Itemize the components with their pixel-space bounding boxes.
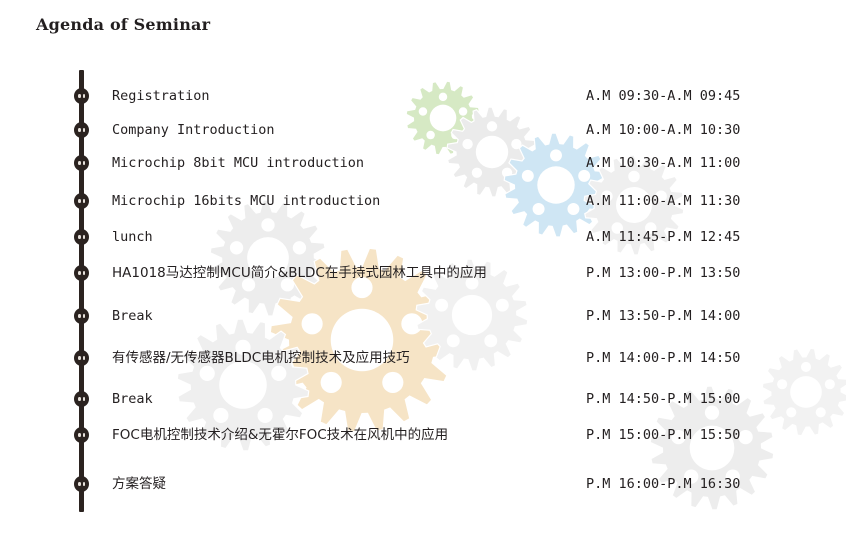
page-title: Agenda of Seminar — [36, 15, 210, 34]
slide-canvas: Agenda of Seminar RegistrationA.M 09:30-… — [0, 0, 846, 534]
agenda-item-label: Company Introduction — [112, 118, 275, 142]
agenda-row: HA1018马达控制MCU简介&BLDC在手持式园林工具中的应用P.M 13:0… — [0, 261, 846, 285]
timeline-bullet-icon — [74, 476, 89, 492]
agenda-row: FOC电机控制技术介绍&无霍尔FOC技术在风机中的应用P.M 15:00-P.M… — [0, 423, 846, 447]
timeline-bullet-icon — [74, 391, 89, 407]
timeline-bullet-icon — [74, 88, 89, 104]
agenda-row: 方案答疑P.M 16:00-P.M 16:30 — [0, 472, 846, 496]
timeline-bullet-icon — [74, 193, 89, 209]
timeline-bullet-icon — [74, 265, 89, 281]
agenda-item-time: P.M 13:50-P.M 14:00 — [586, 304, 740, 328]
agenda-item-time: A.M 11:45-P.M 12:45 — [586, 225, 740, 249]
agenda-item-label: Registration — [112, 84, 210, 108]
agenda-row: Company IntroductionA.M 10:00-A.M 10:30 — [0, 118, 846, 142]
agenda-item-time: A.M 10:00-A.M 10:30 — [586, 118, 740, 142]
agenda-item-label: Break — [112, 304, 153, 328]
agenda-item-time: P.M 16:00-P.M 16:30 — [586, 472, 740, 496]
agenda-row: RegistrationA.M 09:30-A.M 09:45 — [0, 84, 846, 108]
agenda-item-time: A.M 11:00-A.M 11:30 — [586, 189, 740, 213]
timeline-bullet-icon — [74, 155, 89, 171]
agenda-item-label: 方案答疑 — [112, 472, 166, 496]
timeline-bullet-icon — [74, 308, 89, 324]
timeline-bullet-icon — [74, 122, 89, 138]
agenda-row: BreakP.M 13:50-P.M 14:00 — [0, 304, 846, 328]
agenda-item-label: HA1018马达控制MCU简介&BLDC在手持式园林工具中的应用 — [112, 261, 487, 285]
agenda-item-label: Microchip 8bit MCU introduction — [112, 151, 364, 175]
agenda-item-time: A.M 10:30-A.M 11:00 — [586, 151, 740, 175]
agenda-item-time: P.M 15:00-P.M 15:50 — [586, 423, 740, 447]
timeline-bullet-icon — [74, 229, 89, 245]
agenda-item-time: P.M 14:50-P.M 15:00 — [586, 387, 740, 411]
timeline-bullet-icon — [74, 427, 89, 443]
agenda-row: lunchA.M 11:45-P.M 12:45 — [0, 225, 846, 249]
agenda-row: Microchip 8bit MCU introductionA.M 10:30… — [0, 151, 846, 175]
agenda-row: Microchip 16bits MCU introductionA.M 11:… — [0, 189, 846, 213]
agenda-item-label: lunch — [112, 225, 153, 249]
agenda-item-time: A.M 09:30-A.M 09:45 — [586, 84, 740, 108]
agenda-row: 有传感器/无传感器BLDC电机控制技术及应用技巧P.M 14:00-P.M 14… — [0, 346, 846, 370]
agenda-item-label: Microchip 16bits MCU introduction — [112, 189, 380, 213]
agenda-list: RegistrationA.M 09:30-A.M 09:45Company I… — [0, 0, 846, 534]
agenda-item-time: P.M 13:00-P.M 13:50 — [586, 261, 740, 285]
agenda-item-label: FOC电机控制技术介绍&无霍尔FOC技术在风机中的应用 — [112, 423, 448, 447]
agenda-row: BreakP.M 14:50-P.M 15:00 — [0, 387, 846, 411]
agenda-item-time: P.M 14:00-P.M 14:50 — [586, 346, 740, 370]
timeline-bullet-icon — [74, 350, 89, 366]
agenda-item-label: 有传感器/无传感器BLDC电机控制技术及应用技巧 — [112, 346, 410, 370]
agenda-item-label: Break — [112, 387, 153, 411]
